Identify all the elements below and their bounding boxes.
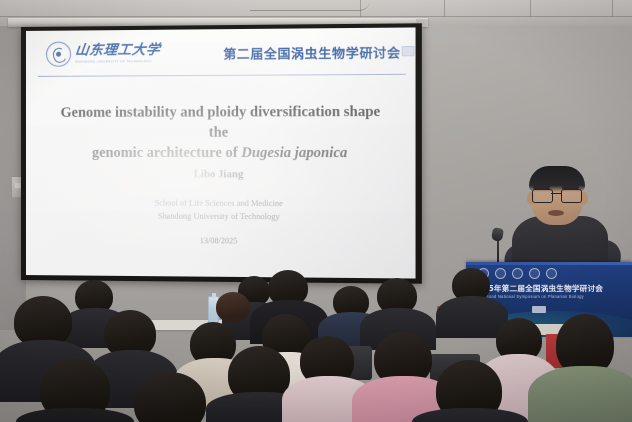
ceiling-grid-line [444, 0, 445, 17]
affiliation-line2: Shandong University of Technology [158, 211, 280, 221]
slide-title: Genome instability and ploidy diversific… [54, 102, 387, 164]
glasses-lens-right [561, 189, 582, 203]
university-name-cn: 山东理工大学 [74, 44, 161, 58]
university-emblem-icon [46, 42, 71, 67]
speaker-mouth [548, 210, 564, 216]
attendee-shoulders [528, 366, 632, 422]
university-logo: 山东理工大学 SHANDONG UNIVERSITY OF TECHNOLOGY [46, 41, 160, 67]
ceiling-grid-line [530, 0, 531, 17]
presentation-slide: 山东理工大学 SHANDONG UNIVERSITY OF TECHNOLOGY… [26, 27, 416, 278]
slide-title-species: Dugesia japonica [241, 145, 347, 161]
university-name-en: SHANDONG UNIVERSITY OF TECHNOLOGY [75, 60, 160, 63]
attendee-head [216, 292, 250, 322]
slide-header: 山东理工大学 SHANDONG UNIVERSITY OF TECHNOLOGY… [26, 27, 416, 76]
ceiling-grid-line [612, 0, 613, 17]
slide-title-line2-prefix: genomic architecture of [92, 145, 241, 161]
glasses-bridge [551, 193, 561, 194]
ceiling-grid-line [0, 16, 632, 17]
slide-affiliation: School of Life Sciences and Medicine Sha… [54, 197, 387, 224]
slide-presenter-name: Libo Jiang [54, 169, 387, 181]
glasses-lens-left [532, 189, 553, 203]
glasses-icon [532, 189, 582, 201]
slide-title-line1: Genome instability and ploidy diversific… [61, 104, 381, 141]
slide-header-title: 第二届全国涡虫生物学研讨会 [223, 42, 400, 63]
screen-cord [250, 0, 370, 11]
projection-screen: 山东理工大学 SHANDONG UNIVERSITY OF TECHNOLOGY… [21, 23, 422, 283]
audience [0, 262, 632, 422]
slide-date: 13/08/2025 [54, 235, 387, 246]
affiliation-line1: School of Life Sciences and Medicine [155, 198, 283, 208]
lecture-hall-photo: 山东理工大学 SHANDONG UNIVERSITY OF TECHNOLOGY… [0, 0, 632, 422]
slide-corner-badge-icon [402, 46, 415, 56]
attendee-shoulders [16, 408, 134, 422]
